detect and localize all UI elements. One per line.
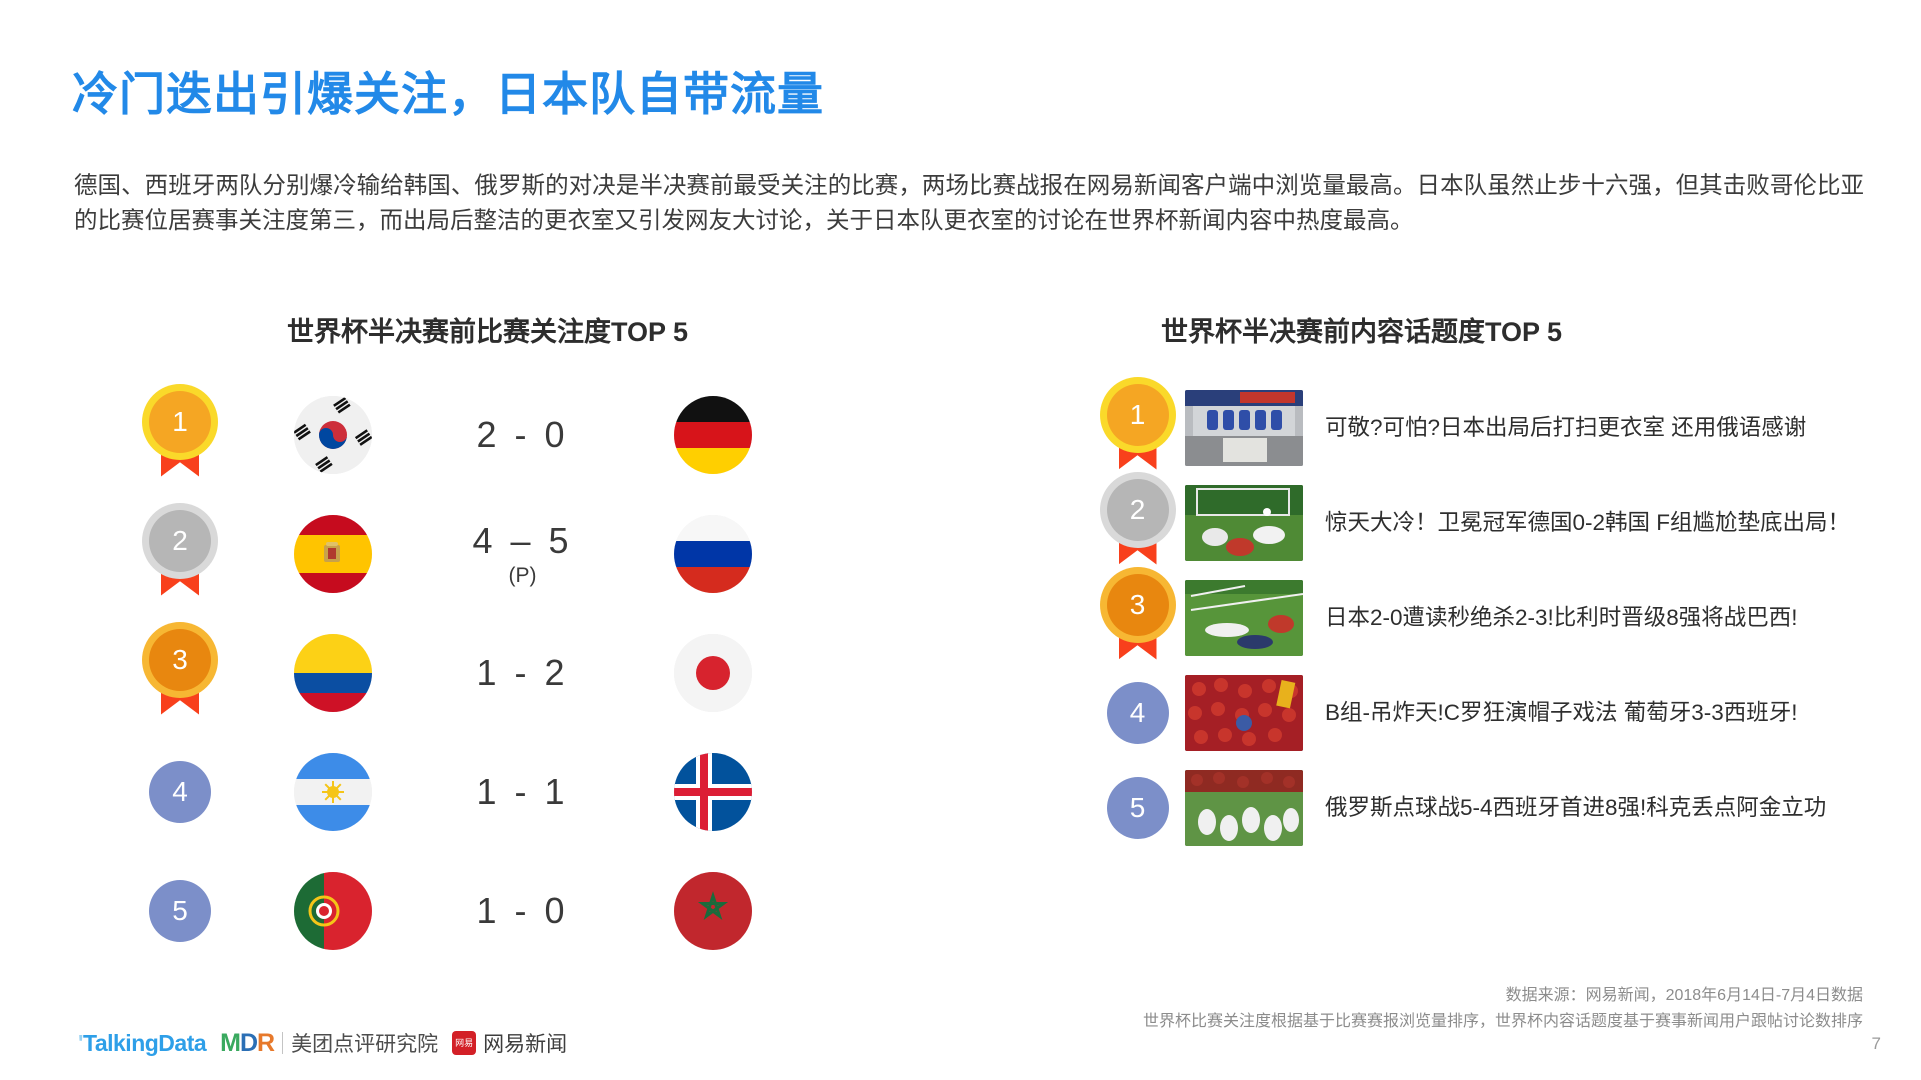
table-row[interactable]: 2 4 – 5 (P) [120,494,910,613]
rank-cell: 2 [1090,479,1185,567]
rank-cell: 5 [1090,777,1185,839]
list-item[interactable]: 4 B组-吊炸天!C罗狂演帽子戏法 葡萄牙3-3西班牙! [1090,665,1890,760]
table-row[interactable]: 4 1 - 1 [120,732,910,851]
medal-bronze-icon: 3 [1107,574,1169,662]
logo-mdr-name: 美团点评研究院 [291,1028,438,1058]
score-cell: 1 - 0 [425,890,620,932]
team-a-flag-cell [240,396,425,474]
topic-headline[interactable]: 可敬?可怕?日本出局后打扫更衣室 还用俄语感谢 [1325,412,1855,443]
thumbnail-locker-room[interactable] [1185,390,1303,466]
rank-cell: 5 [120,880,240,942]
list-item[interactable]: 2 惊天大冷！卫冕冠军德国0-2韩国 F组尴尬垫底出局！ [1090,475,1890,570]
logo-netease: 网易 网易新闻 [452,1028,567,1058]
flag-japan-icon [674,634,752,712]
flag-south-korea-icon [294,396,372,474]
rank-number: 4 [149,761,211,823]
score-cell: 1 - 1 [425,771,620,813]
logo-netease-name: 网易新闻 [483,1028,567,1058]
logo-mdr-mark: MDR [220,1029,274,1058]
source-line-2: 世界杯比赛关注度根据基于比赛赛报浏览量排序，世界杯内容话题度基于赛事新闻用户跟帖… [1143,1009,1863,1035]
rank-number: 2 [149,510,211,572]
slide-root: 冷门迭出引爆关注，日本队自带流量 德国、西班牙两队分别爆冷输给韩国、俄罗斯的对决… [0,0,1921,1080]
flag-portugal-icon [294,872,372,950]
flag-argentina-icon [294,753,372,831]
medal-silver-icon: 2 [1107,479,1169,567]
rank-cell: 1 [1090,384,1185,472]
medal-bronze-icon: 3 [149,629,211,717]
team-b-flag-cell [620,634,805,712]
score-value: 1 - 1 [476,771,568,813]
topic-headline[interactable]: 俄罗斯点球战5-4西班牙首进8强!科克丢点阿金立功 [1325,792,1855,823]
logo-talkingdata-text: TalkingData [83,1030,206,1056]
rank-number: 3 [1107,574,1169,636]
score-value: 2 - 0 [476,414,568,456]
team-b-flag-cell [620,753,805,831]
rank-cell: 3 [1090,574,1185,662]
table-row[interactable]: 1 2 [120,375,910,494]
right-panel-heading: 世界杯半决赛前内容话题度TOP 5 [1161,310,1562,349]
page-number: 7 [1872,1034,1881,1054]
rank-number: 3 [149,629,211,691]
topic-headline[interactable]: 惊天大冷！卫冕冠军德国0-2韩国 F组尴尬垫底出局！ [1325,507,1855,538]
footer-logos: 'TalkingData MDR 美团点评研究院 网易 网易新闻 [78,1028,567,1058]
team-b-flag-cell [620,396,805,474]
logo-talkingdata: 'TalkingData [78,1030,206,1057]
list-item[interactable]: 3 日本2-0遭读秒绝杀2-3!比利时晋级8强将战巴西! [1090,570,1890,665]
team-a-flag-cell [240,515,425,593]
match-ranking-list: 1 2 [120,375,910,970]
rank-badge-4: 4 [149,761,211,823]
rank-cell: 2 [120,510,240,598]
flag-germany-icon [674,396,752,474]
rank-number: 4 [1107,682,1169,744]
flag-spain-icon [294,515,372,593]
topic-ranking-list: 1 可敬?可怕?日本出局后打扫更衣室 还用俄语感谢 2 [1090,380,1890,855]
flag-colombia-icon [294,634,372,712]
page-title: 冷门迭出引爆关注，日本队自带流量 [72,58,824,124]
score-cell: 1 - 2 [425,652,620,694]
team-a-flag-cell [240,753,425,831]
table-row[interactable]: 5 1 - 0 [120,851,910,970]
rank-number: 5 [1107,777,1169,839]
topic-headline[interactable]: 日本2-0遭读秒绝杀2-3!比利时晋级8强将战巴西! [1325,602,1855,633]
rank-number: 5 [149,880,211,942]
flag-iceland-icon [674,753,752,831]
score-value: 1 - 2 [476,652,568,694]
rank-number: 2 [1107,479,1169,541]
logo-mdr: MDR 美团点评研究院 [220,1028,438,1058]
rank-badge-5: 5 [1107,777,1169,839]
medal-silver-icon: 2 [149,510,211,598]
score-value: 1 - 0 [476,890,568,932]
rank-badge-5: 5 [149,880,211,942]
source-line-1: 数据来源：网易新闻，2018年6月14日-7月4日数据 [1143,983,1863,1009]
thumbnail-celebration[interactable] [1185,770,1303,846]
topic-headline[interactable]: B组-吊炸天!C罗狂演帽子戏法 葡萄牙3-3西班牙! [1325,697,1855,728]
rank-cell: 3 [120,629,240,717]
flag-russia-icon [674,515,752,593]
rank-number: 1 [1107,384,1169,446]
team-a-flag-cell [240,872,425,950]
netease-mark-icon: 网易 [452,1031,476,1055]
thumbnail-red-crowd[interactable] [1185,675,1303,751]
rank-number: 1 [149,391,211,453]
rank-badge-4: 4 [1107,682,1169,744]
medal-gold-icon: 1 [1107,384,1169,472]
score-note: (P) [509,564,537,588]
team-b-flag-cell [620,515,805,593]
source-note: 数据来源：网易新闻，2018年6月14日-7月4日数据 世界杯比赛关注度根据基于… [1143,983,1863,1035]
list-item[interactable]: 5 俄罗斯点球战5-4西班牙首进8强!科克丢点阿金立功 [1090,760,1890,855]
score-cell: 4 – 5 (P) [425,520,620,588]
thumbnail-goal-line-save[interactable] [1185,485,1303,561]
score-value: 4 – 5 [472,520,572,562]
divider [282,1032,283,1054]
thumbnail-players-on-pitch[interactable] [1185,580,1303,656]
rank-cell: 4 [120,761,240,823]
flag-morocco-icon [674,872,752,950]
list-item[interactable]: 1 可敬?可怕?日本出局后打扫更衣室 还用俄语感谢 [1090,380,1890,475]
team-a-flag-cell [240,634,425,712]
medal-gold-icon: 1 [149,391,211,479]
left-panel-heading: 世界杯半决赛前比赛关注度TOP 5 [287,310,688,349]
team-b-flag-cell [620,872,805,950]
table-row[interactable]: 3 1 - 2 [120,613,910,732]
score-cell: 2 - 0 [425,414,620,456]
intro-paragraph: 德国、西班牙两队分别爆冷输给韩国、俄罗斯的对决是半决赛前最受关注的比赛，两场比赛… [74,168,1864,238]
rank-cell: 4 [1090,682,1185,744]
rank-cell: 1 [120,391,240,479]
